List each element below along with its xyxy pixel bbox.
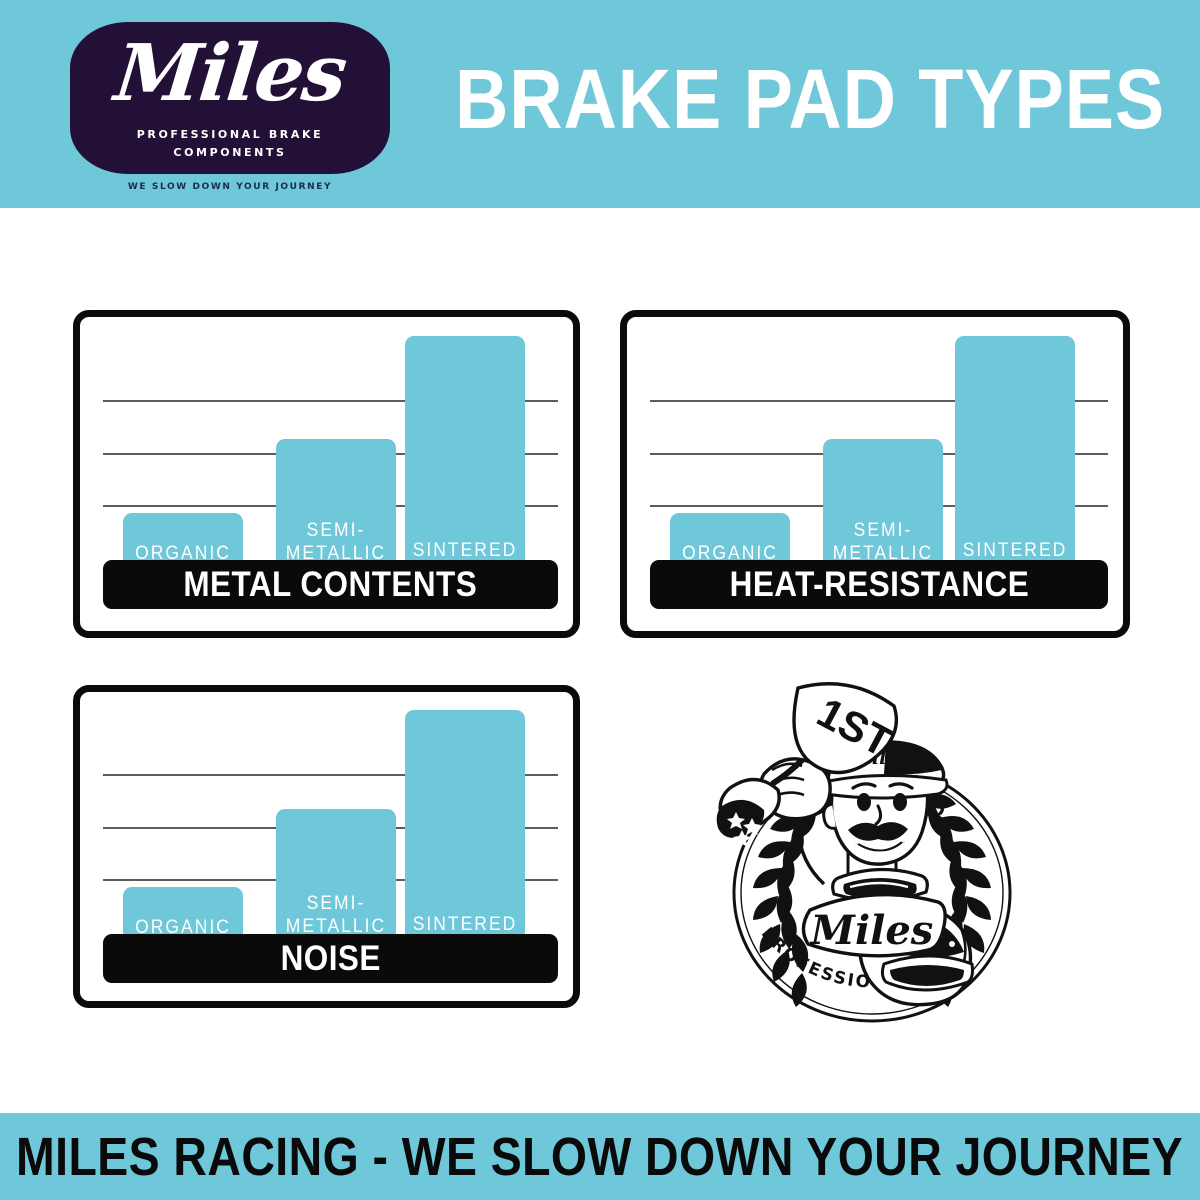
bar-semi-metallic: SEMI- METALLIC <box>276 809 396 952</box>
plot-area: ORGANIC SEMI- METALLIC SINTERED METAL CO… <box>80 317 573 631</box>
svg-text:Miles: Miles <box>809 907 934 954</box>
plot-area: ORGANIC SEMI- METALLIC SINTERED HEAT-RES… <box>627 317 1123 631</box>
bar-label-semi-metallic-1: SEMI- <box>281 519 391 542</box>
bar-sintered: SINTERED <box>955 336 1075 578</box>
footer-tagline: MILES RACING - WE SLOW DOWN YOUR JOURNEY <box>0 1113 1200 1200</box>
bar-label-semi-metallic-1: SEMI- <box>828 519 938 542</box>
plot-area: ORGANIC SEMI- METALLIC SINTERED NOISE <box>80 692 573 1001</box>
infographic-canvas: Miles PROFESSIONAL BRAKE COMPONENTS WE S… <box>0 0 1200 1200</box>
logo-script-name: Miles <box>65 26 395 122</box>
bar-semi-metallic: SEMI- METALLIC <box>823 439 943 578</box>
bar-label-sintered: SINTERED <box>960 539 1070 562</box>
chart-card-metal-contents: ORGANIC SEMI- METALLIC SINTERED METAL CO… <box>73 310 580 638</box>
footer-tagline-text: MILES RACING - WE SLOW DOWN YOUR JOURNEY <box>16 1130 1183 1184</box>
chart-card-heat-resistance: ORGANIC SEMI- METALLIC SINTERED HEAT-RES… <box>620 310 1130 638</box>
card-title: NOISE <box>280 941 380 976</box>
bar-label-sintered: SINTERED <box>410 539 520 562</box>
miles-racer-trophy-badge: PROFESSIONAL BRAKE COMPONENTS <box>672 678 1072 1058</box>
miles-logo-badge: Miles PROFESSIONAL BRAKE COMPONENTS <box>70 22 390 174</box>
chart-card-noise: ORGANIC SEMI- METALLIC SINTERED NOISE <box>73 685 580 1008</box>
bar-sintered: SINTERED <box>405 336 525 578</box>
card-title: METAL CONTENTS <box>184 567 478 602</box>
bar-sintered: SINTERED <box>405 710 525 952</box>
bar-label-semi-metallic-1: SEMI- <box>281 892 391 915</box>
page-title: BRAKE PAD TYPES <box>455 44 1071 154</box>
card-title-bar: METAL CONTENTS <box>103 560 558 609</box>
bar-label-sintered: SINTERED <box>410 913 520 936</box>
card-title-bar: HEAT-RESISTANCE <box>650 560 1108 609</box>
bar-semi-metallic: SEMI- METALLIC <box>276 439 396 578</box>
card-title: HEAT-RESISTANCE <box>729 567 1029 602</box>
logo-tagline: WE SLOW DOWN YOUR JOURNEY <box>70 182 390 192</box>
logo-subtitle-line2: COMPONENTS <box>70 146 390 159</box>
logo-subtitle-line1: PROFESSIONAL BRAKE <box>70 128 390 141</box>
card-title-bar: NOISE <box>103 934 558 983</box>
